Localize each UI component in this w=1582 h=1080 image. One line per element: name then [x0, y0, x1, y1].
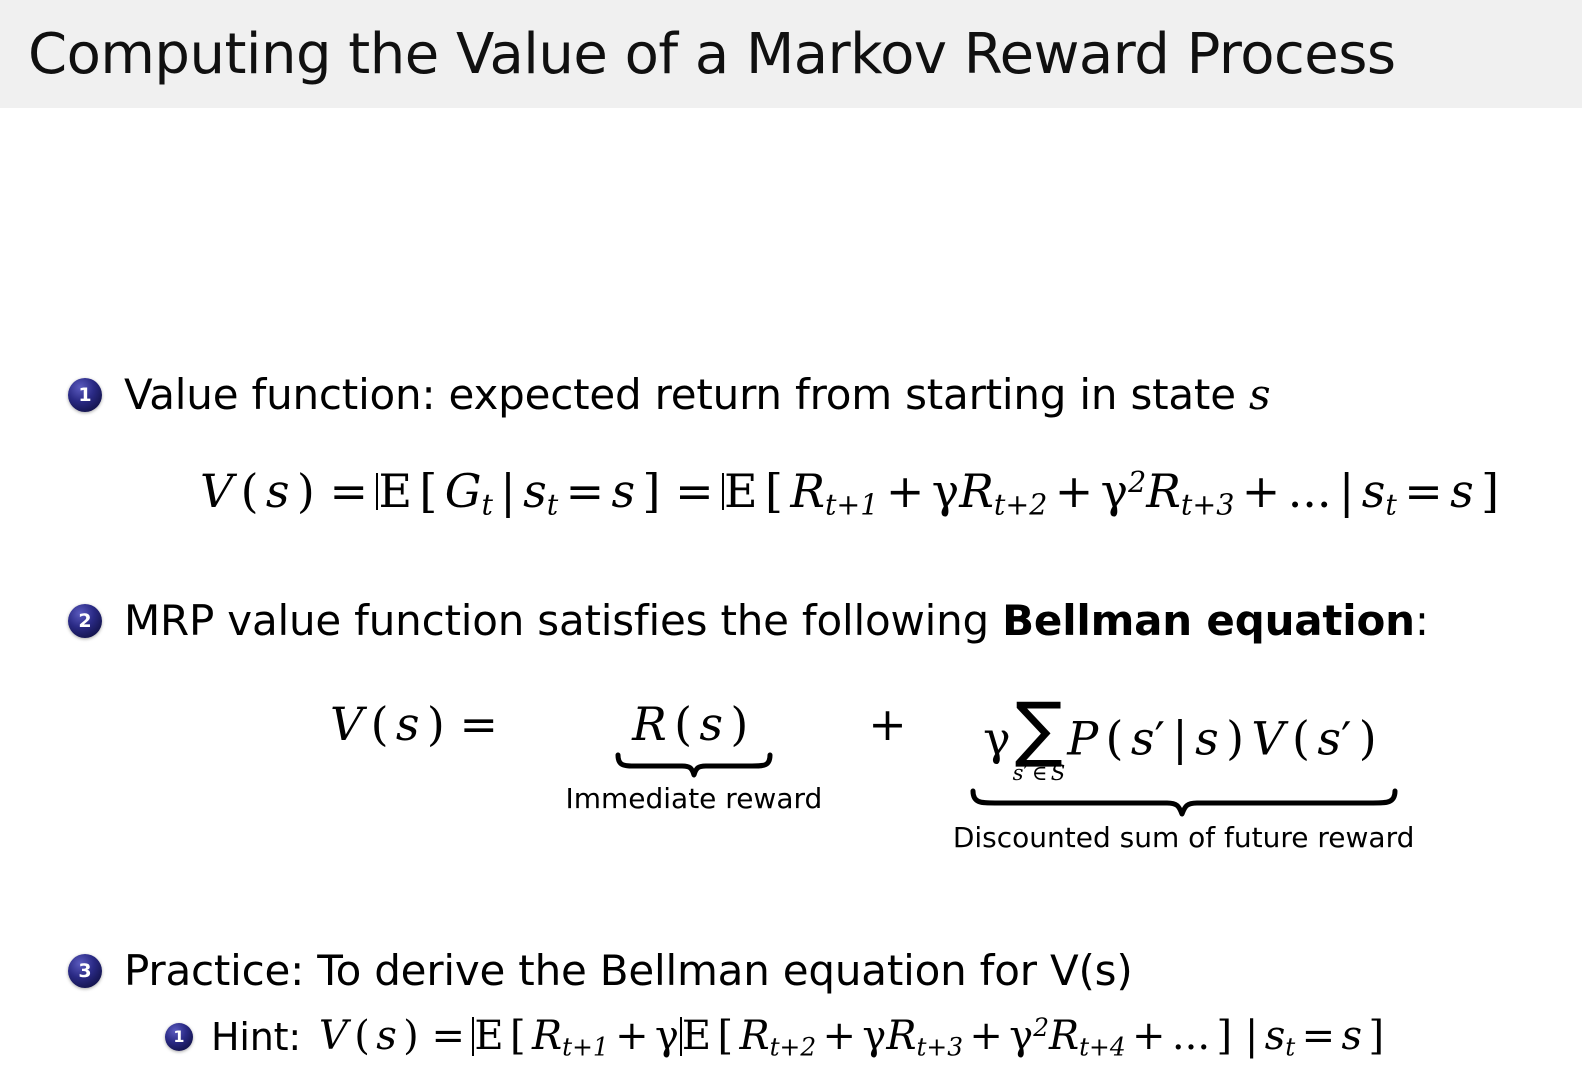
bellman-plus-group: + — [822, 700, 953, 750]
eq1-bar-1: | — [493, 464, 523, 518]
bullet-2-emphasis: Bellman equation — [1002, 596, 1415, 645]
bullet-1-plain: Value function: expected return from sta… — [124, 370, 1236, 419]
bullet-text-3: Practice: To derive the Bellman equation… — [124, 946, 1133, 995]
equation-hint: V(s)=E[Rt+1+γE[Rt+2+γRt+3+γ2Rt+4+...]|st… — [319, 1013, 1391, 1061]
underbrace-immediate-icon — [614, 752, 774, 778]
sub-bullet-item-1: 1 Hint: V(s)=E[Rt+1+γE[Rt+2+γRt+3+γ2Rt+4… — [165, 1013, 1390, 1061]
bellman-immediate-group: R(s) Immediate reward — [565, 700, 822, 815]
bellman-plus: + — [822, 700, 953, 750]
bellman-discount-term: γ∑s′∈SP(s′|s)V(s′) — [983, 700, 1384, 785]
bullet-item-3: 3 Practice: To derive the Bellman equati… — [68, 946, 1133, 995]
bullet-3-plain: Practice: To derive the Bellman equation… — [124, 946, 1050, 995]
hint-lhs: V(s) — [319, 1013, 425, 1059]
bullet-1-trailing-math: s — [1249, 370, 1270, 419]
equation-value-function: V(s)=E[Gt|st=s]=E[Rt+1+γRt+2+γ2Rt+3+...|… — [200, 468, 1506, 520]
eq1-bracket-close-2: ] — [1474, 464, 1507, 518]
eq1-bracket-close-1: ] — [635, 464, 668, 518]
eq1-ellipsis: ... — [1288, 464, 1332, 518]
bellman-discount-group: γ∑s′∈SP(s′|s)V(s′) Discounted sum of fut… — [953, 700, 1415, 854]
hint-expectation-2: E — [679, 1013, 711, 1059]
bullet-item-2: 2 MRP value function satisfies the follo… — [68, 596, 1429, 645]
bullet-3-trailing-math: V(s) — [1050, 946, 1133, 995]
eq1-equals-2: = — [668, 464, 721, 518]
bellman-discount-label: Discounted sum of future reward — [953, 821, 1415, 854]
page-title: Computing the Value of a Markov Reward P… — [0, 22, 1396, 87]
eq1-gamma-1: γ — [932, 464, 960, 518]
bullet-item-1: 1 Value function: expected return from s… — [68, 370, 1270, 419]
sigma-icon: ∑ — [1015, 698, 1063, 761]
eq1-bracket-open-2: [ — [758, 464, 791, 518]
hint-expectation-1: E — [471, 1013, 503, 1059]
hint-gamma-2: γ — [862, 1013, 886, 1059]
sub-bullet-label-hint: Hint: — [211, 1015, 301, 1059]
bullet-text-2: MRP value function satisfies the followi… — [124, 596, 1429, 645]
bellman-immediate-label: Immediate reward — [565, 782, 822, 815]
hint-gamma-1: γ — [655, 1013, 679, 1059]
bullet-text-1: Value function: expected return from sta… — [124, 370, 1270, 419]
eq1-lhs: V(s) — [200, 464, 322, 518]
bullet-2-prefix: MRP value function satisfies the followi… — [124, 596, 1002, 645]
eq1-expectation-2: E — [721, 468, 758, 514]
eq1-bar-2: | — [1332, 464, 1362, 518]
bellman-sum-limits: s′∈S — [1013, 762, 1066, 783]
slide-title-bar: Computing the Value of a Markov Reward P… — [0, 0, 1582, 108]
bullet-number-badge-3: 3 — [68, 954, 102, 988]
bellman-gamma: γ — [983, 711, 1011, 765]
eq1-gamma-2: γ — [1101, 464, 1129, 518]
hint-gamma-3: γ — [1009, 1013, 1033, 1059]
slide-content: 1 Value function: expected return from s… — [0, 108, 1582, 1080]
bullet-2-suffix: : — [1415, 596, 1429, 645]
underbrace-discounted-icon — [969, 787, 1399, 817]
bellman-lhs-group: V(s)= — [330, 700, 505, 750]
sub-bullet-number-badge-1: 1 — [165, 1023, 193, 1051]
eq1-bracket-open-1: [ — [412, 464, 445, 518]
eq1-expectation-1: E — [375, 468, 412, 514]
bellman-summation: ∑s′∈S — [1013, 698, 1066, 783]
bullet-number-badge-1: 1 — [68, 378, 102, 412]
hint-ellipsis: ... — [1172, 1013, 1210, 1059]
bellman-lhs: V(s)= — [330, 700, 505, 750]
bellman-immediate-term: R(s) — [632, 700, 756, 750]
eq1-equals-1: = — [322, 464, 375, 518]
bullet-number-badge-2: 2 — [68, 604, 102, 638]
equation-bellman: V(s)= R(s) Immediate reward + γ∑s′∈SP(s′… — [330, 700, 1414, 854]
